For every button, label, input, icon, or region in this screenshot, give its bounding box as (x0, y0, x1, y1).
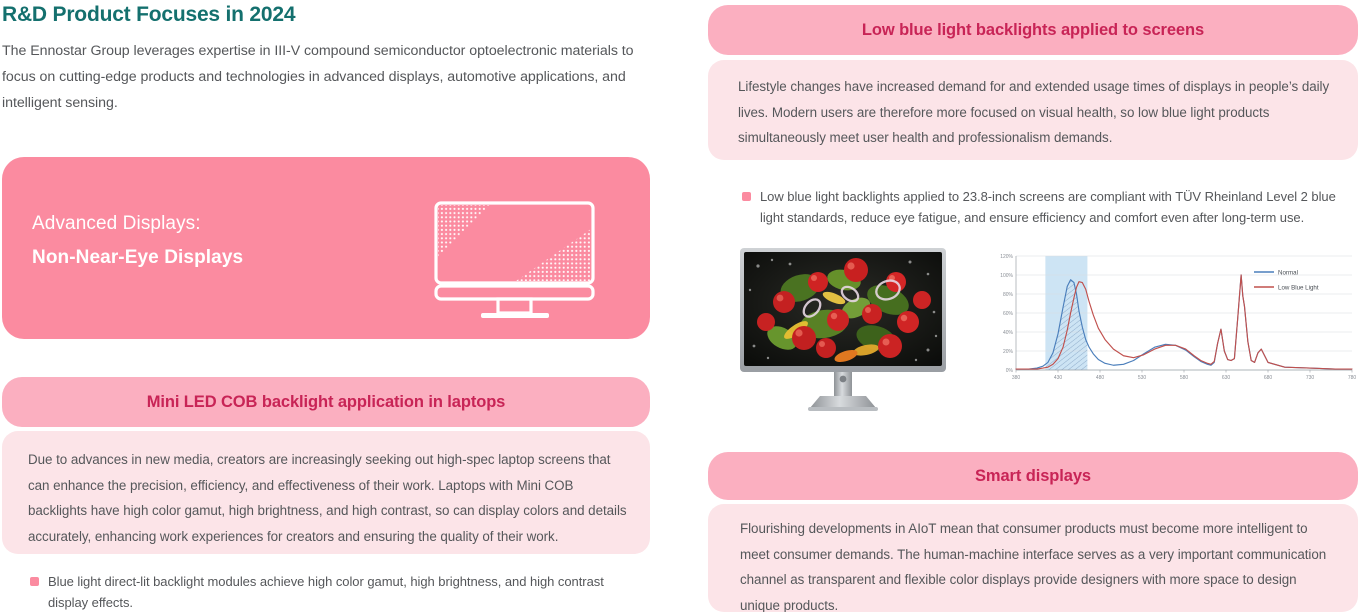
svg-text:Low Blue Light: Low Blue Light (1278, 284, 1319, 291)
section-header-mini-led-cob: Mini LED COB backlight application in la… (2, 377, 650, 427)
svg-text:480: 480 (1096, 375, 1105, 381)
bullet-item-mini-led-cob: Blue light direct-lit backlight modules … (30, 571, 640, 612)
section-header-smart-displays: Smart displays (708, 452, 1358, 500)
intro-paragraph: The Ennostar Group leverages expertise i… (2, 38, 657, 116)
svg-text:120%: 120% (1000, 254, 1013, 260)
section-title: Mini LED COB backlight application in la… (147, 393, 506, 412)
bullet-marker-icon (30, 577, 39, 586)
chart-svg: 0%20%40%60%80%100%120%380430480530580630… (986, 246, 1360, 396)
bullet-text: Low blue light backlights applied to 23.… (760, 186, 1350, 228)
svg-text:730: 730 (1306, 375, 1315, 381)
section-body-text: Due to advances in new media, creators a… (28, 447, 628, 549)
svg-text:380: 380 (1012, 375, 1021, 381)
svg-text:0%: 0% (1006, 368, 1014, 374)
svg-text:Normal: Normal (1278, 269, 1298, 276)
section-body-text: Flourishing developments in AIoT mean th… (740, 516, 1340, 612)
section-body-text: Lifestyle changes have increased demand … (738, 74, 1338, 151)
bullet-marker-icon (742, 192, 751, 201)
svg-text:430: 430 (1054, 375, 1063, 381)
right-column: Low blue light backlights applied to scr… (708, 0, 1360, 612)
hero-line-1: Advanced Displays: (32, 207, 243, 241)
section-body-mini-led-cob: Due to advances in new media, creators a… (2, 431, 650, 554)
section-title: Smart displays (975, 467, 1091, 486)
svg-text:80%: 80% (1003, 292, 1014, 298)
svg-text:630: 630 (1222, 375, 1231, 381)
hero-card-text: Advanced Displays: Non-Near-Eye Displays (32, 207, 243, 275)
section-body-smart-displays: Flourishing developments in AIoT mean th… (708, 504, 1358, 612)
svg-text:530: 530 (1138, 375, 1147, 381)
svg-text:680: 680 (1264, 375, 1273, 381)
monitor-icon (428, 195, 608, 325)
section-title: Low blue light backlights applied to scr… (862, 21, 1204, 40)
svg-text:780: 780 (1348, 375, 1357, 381)
rd-product-focus-page: R&D Product Focuses in 2024 The Ennostar… (0, 0, 1360, 612)
svg-text:580: 580 (1180, 375, 1189, 381)
svg-text:40%: 40% (1003, 330, 1014, 336)
media-row: 0%20%40%60%80%100%120%380430480530580630… (738, 246, 1360, 422)
svg-text:20%: 20% (1003, 349, 1014, 355)
svg-text:100%: 100% (1000, 273, 1013, 279)
hero-card-advanced-displays: Advanced Displays: Non-Near-Eye Displays (2, 157, 650, 339)
page-title: R&D Product Focuses in 2024 (2, 3, 295, 27)
hero-line-2: Non-Near-Eye Displays (32, 241, 243, 275)
section-header-low-blue-light: Low blue light backlights applied to scr… (708, 5, 1358, 55)
svg-text:60%: 60% (1003, 311, 1014, 317)
monitor-photo (738, 246, 948, 414)
spectral-power-distribution-chart: 0%20%40%60%80%100%120%380430480530580630… (986, 246, 1360, 396)
left-column: R&D Product Focuses in 2024 The Ennostar… (0, 0, 660, 612)
bullet-text: Blue light direct-lit backlight modules … (48, 571, 640, 612)
bullet-item-low-blue-light: Low blue light backlights applied to 23.… (742, 186, 1350, 228)
section-body-low-blue-light: Lifestyle changes have increased demand … (708, 60, 1358, 160)
